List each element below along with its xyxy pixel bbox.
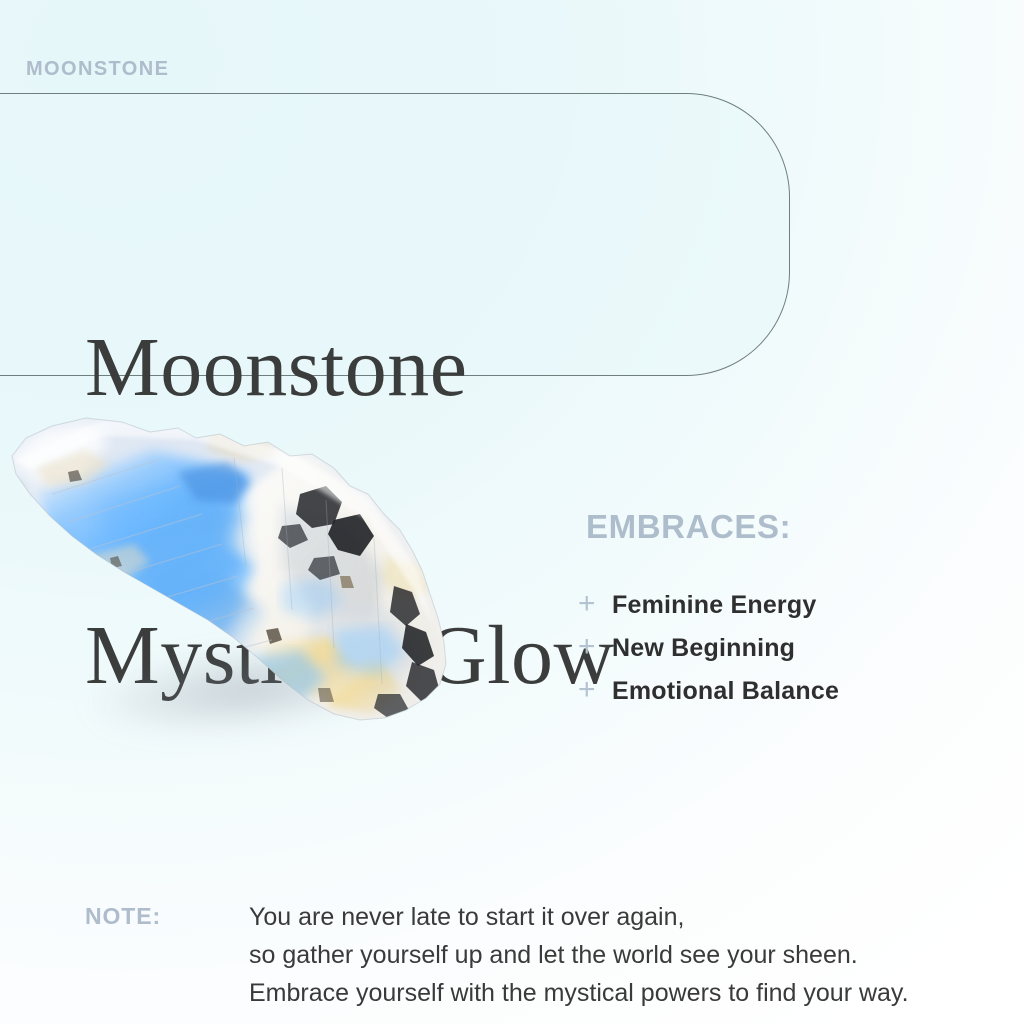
moonstone-illustration	[0, 398, 542, 788]
moonstone-image	[0, 398, 542, 788]
list-item-label: Emotional Balance	[612, 677, 839, 706]
note-label: NOTE:	[85, 903, 161, 930]
embraces-list: + Feminine Energy + New Beginning + Emot…	[578, 589, 839, 718]
list-item: + Feminine Energy	[578, 589, 839, 632]
list-item: + New Beginning	[578, 632, 839, 675]
embraces-heading: EMBRACES:	[586, 508, 791, 546]
plus-icon: +	[578, 675, 612, 705]
eyebrow-label: MOONSTONE	[26, 58, 169, 81]
plus-icon: +	[578, 632, 612, 662]
plus-icon: +	[578, 589, 612, 619]
list-item: + Emotional Balance	[578, 675, 839, 718]
note-body: You are never late to start it over agai…	[249, 898, 989, 1012]
list-item-label: New Beginning	[612, 634, 795, 663]
poster-root: MOONSTONE Moonstone Mystical Glow	[0, 0, 1024, 1024]
list-item-label: Feminine Energy	[612, 591, 816, 620]
